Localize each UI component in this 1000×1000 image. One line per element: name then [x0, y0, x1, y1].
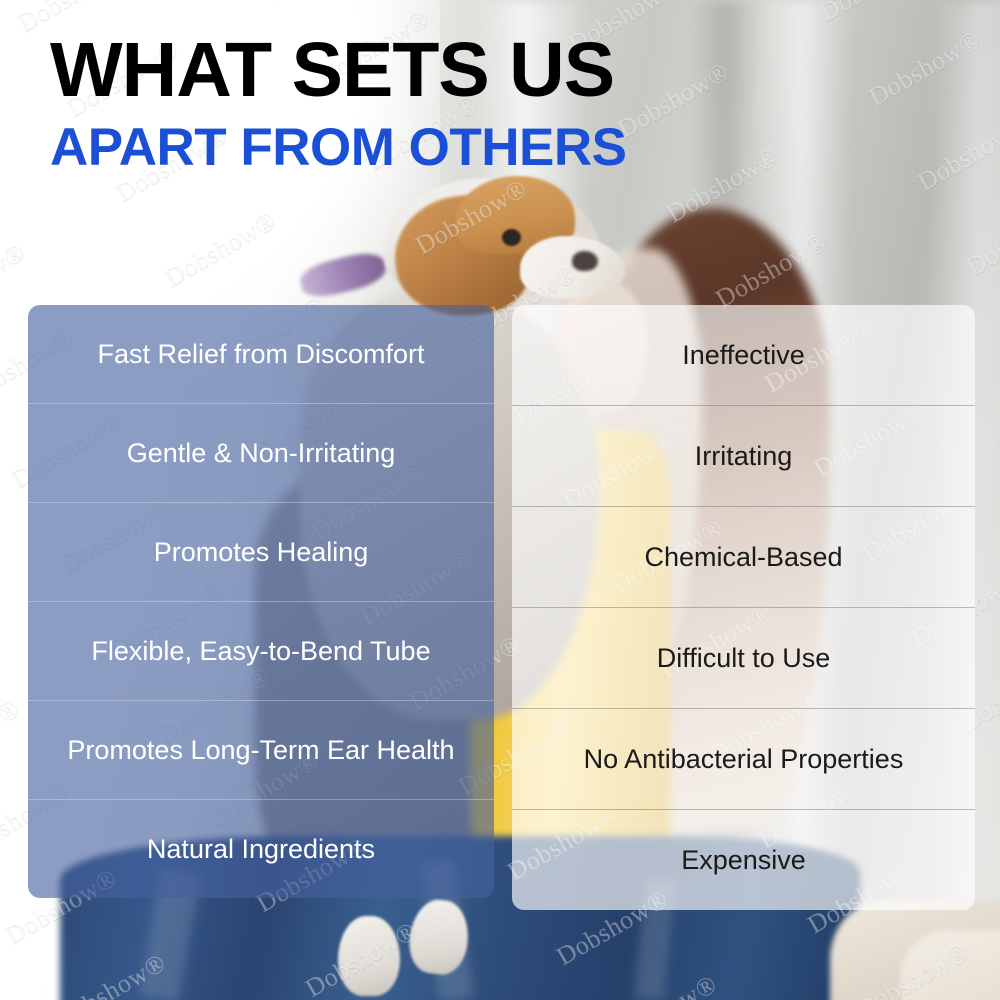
cons-row: Ineffective — [512, 305, 975, 406]
dog-eye — [502, 229, 521, 246]
cons-panel: Ineffective Irritating Chemical-Based Di… — [512, 305, 975, 910]
cons-row: Expensive — [512, 810, 975, 910]
pros-row: Promotes Long-Term Ear Health — [28, 701, 494, 800]
headline-primary: WHAT SETS US — [50, 34, 626, 108]
pros-row: Flexible, Easy-to-Bend Tube — [28, 602, 494, 701]
cons-row: Irritating — [512, 406, 975, 507]
page-title: WHAT SETS US APART FROM OTHERS — [50, 34, 626, 176]
cons-row: Chemical-Based — [512, 507, 975, 608]
cons-row: Difficult to Use — [512, 608, 975, 709]
headline-secondary: APART FROM OTHERS — [50, 120, 626, 176]
pros-row: Fast Relief from Discomfort — [28, 305, 494, 404]
dog-paw — [338, 916, 400, 996]
pros-row: Natural Ingredients — [28, 800, 494, 898]
pros-row: Promotes Healing — [28, 503, 494, 602]
cons-row: No Antibacterial Properties — [512, 709, 975, 810]
dog-nose — [572, 251, 598, 271]
pros-panel: Fast Relief from Discomfort Gentle & Non… — [28, 305, 494, 898]
comparison-table: Fast Relief from Discomfort Gentle & Non… — [28, 305, 975, 910]
infographic-canvas: Dobshow®Dobshow®Dobshow®Dobshow®Dobshow®… — [0, 0, 1000, 1000]
pros-row: Gentle & Non-Irritating — [28, 404, 494, 503]
